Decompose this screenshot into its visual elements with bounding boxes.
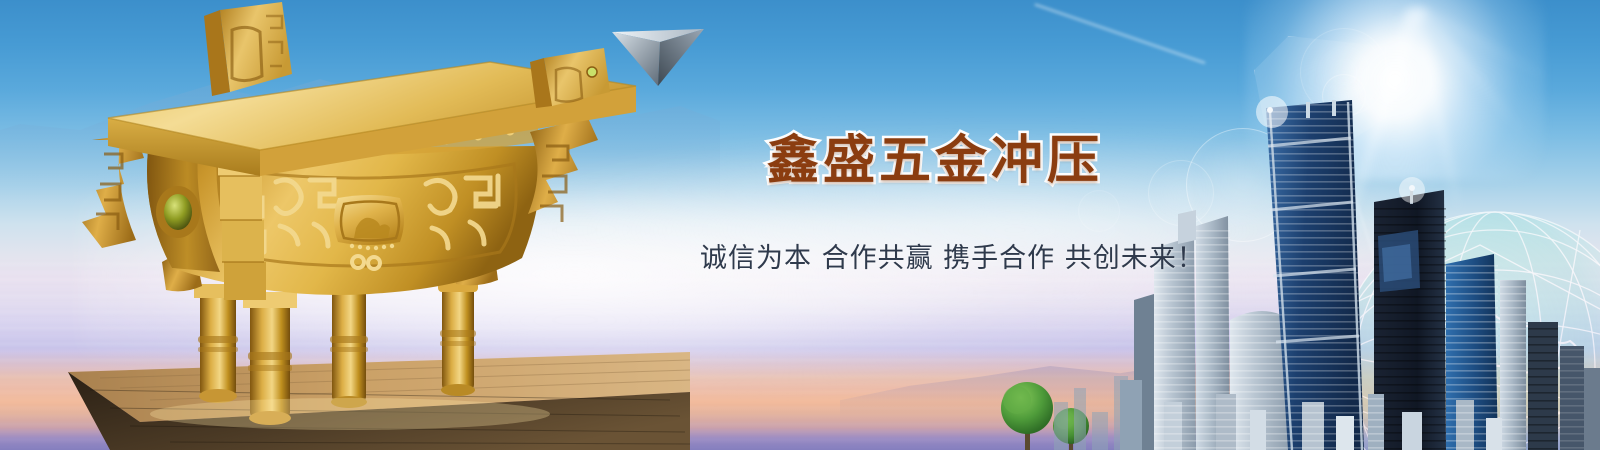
page-title: 鑫盛五金冲压 (700, 132, 1170, 192)
ding-side-boss (156, 186, 200, 238)
building-dark-wedge (1374, 185, 1446, 450)
building-slim-silver (1500, 280, 1526, 450)
ding-corner-flange-right (528, 118, 598, 214)
banner-text-block: 鑫盛五金冲压 诚信为本 合作共赢 携手合作 共创未来！ (700, 132, 1170, 275)
banner-subtitle: 诚信为本 合作共赢 携手合作 共创未来！ (700, 236, 1170, 275)
hero-banner: 鑫盛五金冲压 诚信为本 合作共赢 携手合作 共创未来！ (0, 0, 1600, 450)
ding-handle-left (204, 2, 292, 96)
building-right-blocks (1528, 322, 1600, 450)
ding-vessel (70, 0, 640, 430)
ding-central-cartouche (334, 195, 404, 250)
ding-leg-group (328, 280, 478, 408)
